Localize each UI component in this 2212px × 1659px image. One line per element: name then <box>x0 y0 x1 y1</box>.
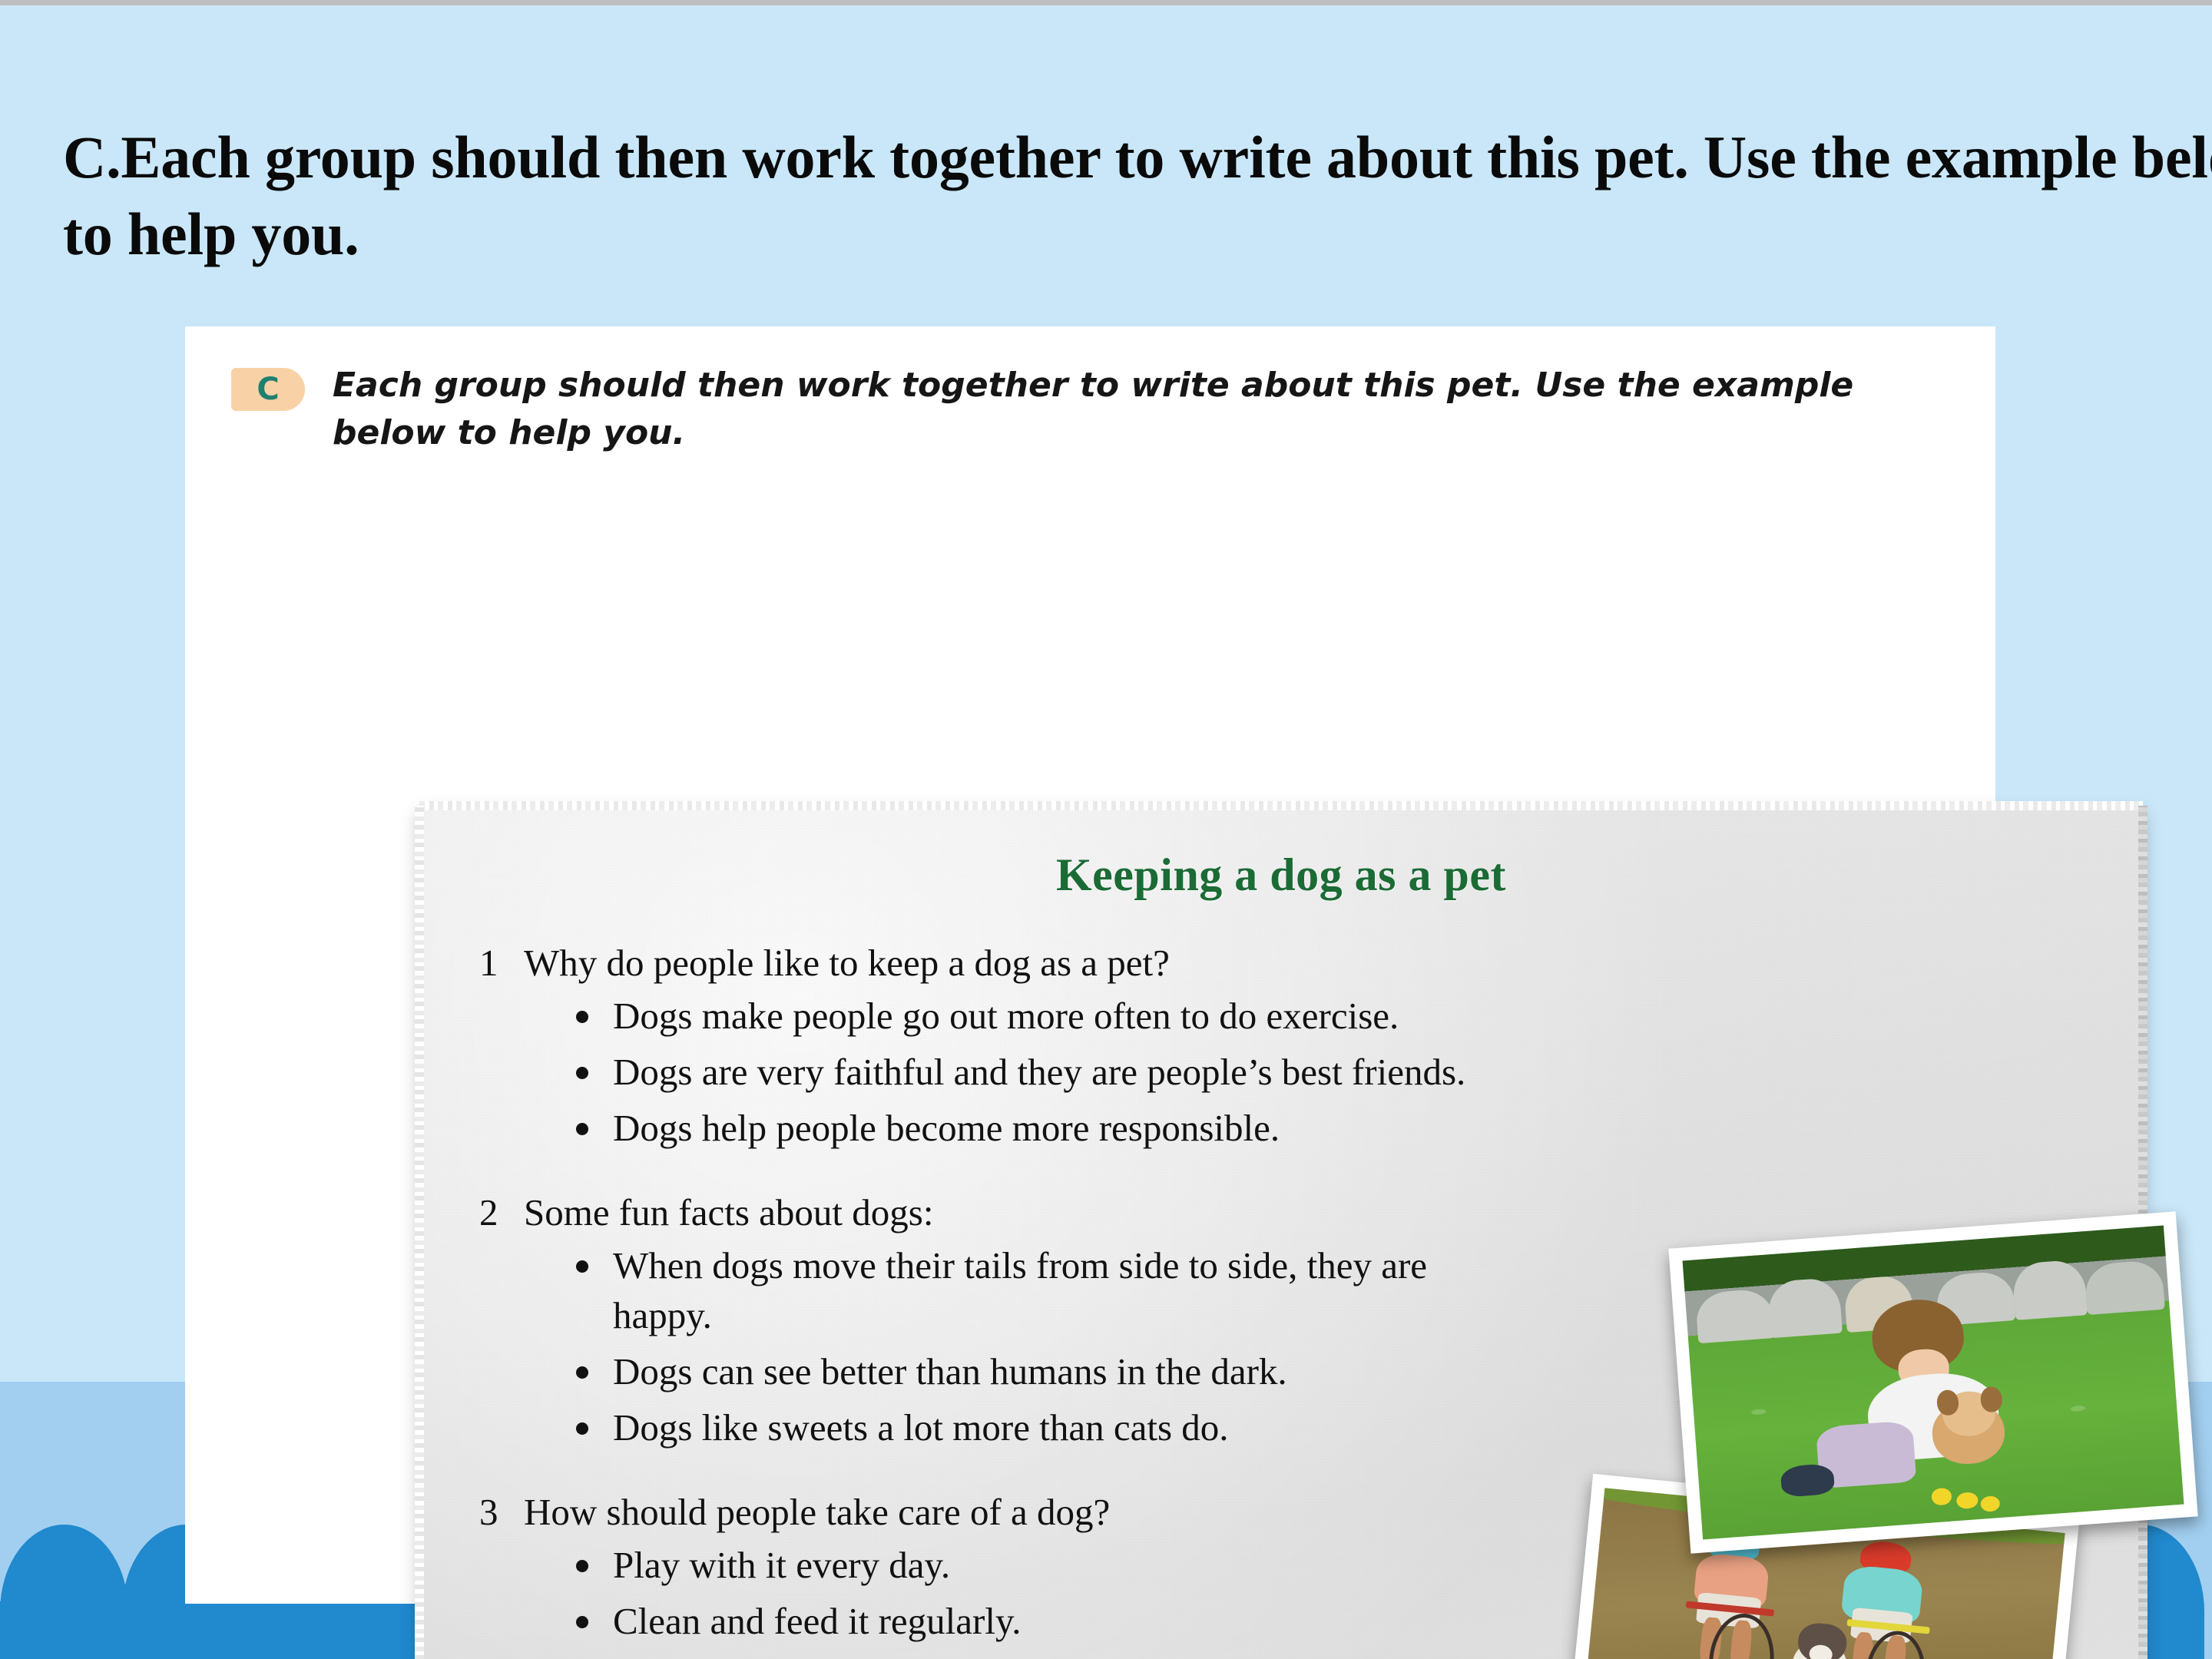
answer-bullet: Dogs like sweets a lot more than cats do… <box>570 1402 1785 1452</box>
answer-bullet: Dogs are very faithful and they are peop… <box>570 1047 1785 1097</box>
child-with-puppy-image <box>1683 1225 2184 1539</box>
answer-bullet: When dogs move their tails from side to … <box>570 1240 1445 1340</box>
question-heading: 1 Why do people like to keep a dog as a … <box>479 939 1785 988</box>
arch-shape <box>180 1601 308 1659</box>
answer-bullet: Dogs make people go out more often to do… <box>570 991 1785 1041</box>
arch-shape <box>58 1601 186 1659</box>
paper-title: Keeping a dog as a pet <box>419 849 2143 902</box>
question-text: How should people take care of a dog? <box>524 1488 1110 1537</box>
question-block: 1 Why do people like to keep a dog as a … <box>479 939 1785 1153</box>
question-number: 3 <box>479 1488 524 1537</box>
answer-bullets: When dogs move their tails from side to … <box>570 1240 1785 1453</box>
question-number: 1 <box>479 939 524 988</box>
child-with-puppy-photo <box>1668 1211 2197 1553</box>
answer-bullet: Dogs help people become more responsible… <box>570 1103 1785 1153</box>
answer-bullet: Dogs can see better than humans in the d… <box>570 1346 1785 1396</box>
question-number: 2 <box>479 1188 524 1237</box>
torn-paper-panel: Keeping a dog as a pet 1 Why do people l… <box>419 806 2143 1659</box>
answer-bullets: Dogs make people go out more often to do… <box>570 991 1785 1153</box>
slide-headline: C.Each group should then work together t… <box>63 119 2212 273</box>
slide-canvas: C.Each group should then work together t… <box>0 0 2212 1659</box>
arch-shape <box>302 1601 430 1659</box>
question-block: 2 Some fun facts about dogs: When dogs m… <box>479 1188 1785 1452</box>
paper-torn-edge-top <box>419 801 2143 810</box>
section-c-badge-icon: C <box>231 368 305 411</box>
question-text: Some fun facts about dogs: <box>524 1188 933 1237</box>
arch-shape <box>0 1601 64 1659</box>
textbook-excerpt-card: C Each group should then work together t… <box>185 326 1995 1604</box>
question-heading: 2 Some fun facts about dogs: <box>479 1188 1785 1237</box>
paper-torn-edge-left <box>415 806 424 1659</box>
instruction-text: Each group should then work together to … <box>333 362 1890 458</box>
question-text: Why do people like to keep a dog as a pe… <box>524 939 1170 988</box>
instruction-row: C Each group should then work together t… <box>231 362 1890 458</box>
